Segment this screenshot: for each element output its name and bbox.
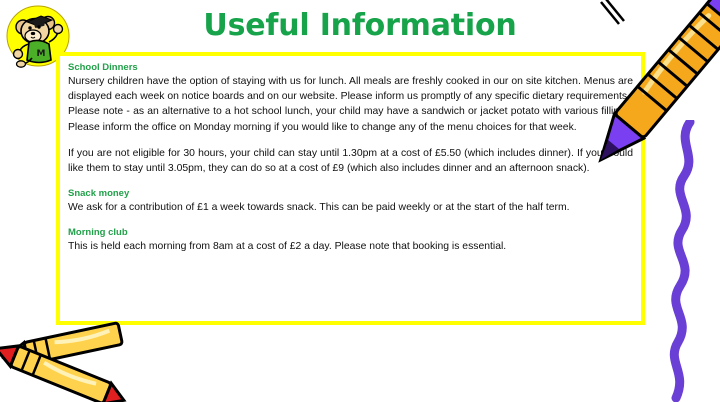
section-heading-snack-money: Snack money [68, 187, 633, 200]
slide-canvas: M Useful Information School Dinners Nurs… [0, 0, 720, 402]
section-morning-club: Morning club This is held each morning f… [68, 226, 633, 254]
section-heading-morning-club: Morning club [68, 226, 633, 239]
paragraph-snack-money-1: We ask for a contribution of £1 a week t… [68, 200, 633, 215]
paragraph-spacer [68, 135, 633, 146]
page-title: Useful Information [80, 8, 640, 44]
section-school-dinners: School Dinners Nursery children have the… [68, 61, 633, 176]
section-snack-money: Snack money We ask for a contribution of… [68, 187, 633, 215]
section-heading-school-dinners: School Dinners [68, 61, 633, 74]
paragraph-school-dinners-1: Nursery children have the option of stay… [68, 74, 633, 104]
paragraph-school-dinners-3: If you are not eligible for 30 hours, yo… [68, 146, 633, 176]
svg-text:M: M [37, 49, 46, 59]
purple-squiggle-icon [646, 120, 720, 402]
paragraph-school-dinners-2: Please note - as an alternative to a hot… [68, 104, 633, 134]
crossed-crayons-icon [0, 320, 136, 402]
section-spacer [68, 176, 633, 187]
info-box: School Dinners Nursery children have the… [56, 52, 645, 325]
paragraph-morning-club-1: This is held each morning from 8am at a … [68, 239, 633, 254]
section-spacer-2 [68, 215, 633, 226]
